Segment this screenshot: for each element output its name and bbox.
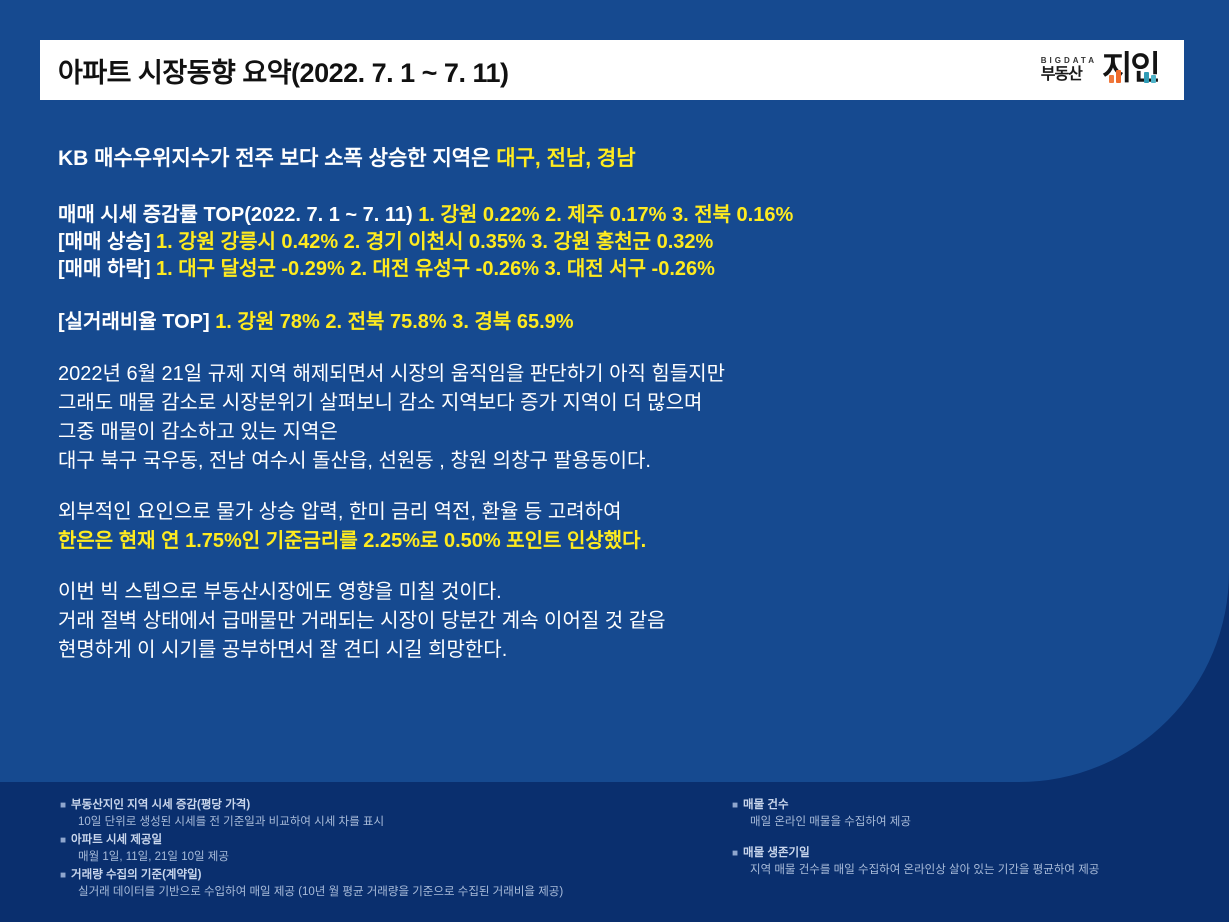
real-deal-line: [실거래비율 TOP] 1. 강원 78% 2. 전북 75.8% 3. 경북 … [58,312,1108,332]
square-bullet-icon: ■ [60,800,66,811]
price-up-line: [매매 상승] 1. 강원 강릉시 0.42% 2. 경기 이천시 0.35% … [58,232,1108,259]
real-deal-values: 1. 강원 78% 2. 전북 75.8% 3. 경북 65.9% [215,311,573,333]
footer-note-desc: 10일 단위로 생성된 시세를 전 기준일과 비교하여 시세 차를 표시 [78,817,700,829]
square-bullet-icon: ■ [732,800,738,811]
footer-note-title: ■매물 생존기일 [732,848,1202,860]
real-deal-block: [실거래비율 TOP] 1. 강원 78% 2. 전북 75.8% 3. 경북 … [58,312,1108,332]
footer-note-title-text: 매물 생존기일 [743,847,810,859]
footer-note-item: ■매물 생존기일 지역 매물 건수를 매일 수집하여 온라인상 살아 있는 기간… [732,848,1202,876]
square-bullet-icon: ■ [60,870,66,881]
interest-rate-statement: 한은은 현재 연 1.75%인 기준금리를 2.25%로 0.50% 포인트 인… [58,531,1108,560]
price-down-label: [매매 하락] [58,258,156,280]
spacer-5 [58,560,1108,582]
logo-bar-teal-2 [1151,75,1156,83]
price-up-values: 1. 강원 강릉시 0.42% 2. 경기 이천시 0.35% 3. 강원 홍천… [156,231,713,253]
footer-column-left: ■부동산지인 지역 시세 증감(평당 가격) 10일 단위로 생성된 시세를 전… [60,800,700,922]
spacer-4 [58,480,1108,502]
paragraph-2: 외부적인 요인으로 물가 상승 압력, 한미 금리 역전, 환율 등 고려하여 … [58,502,1108,560]
paragraph-1-line-2: 그래도 매물 감소로 시장분위기 살펴보니 감소 지역보다 증가 지역이 더 많… [58,393,1108,422]
logo-bar-teal-1 [1144,72,1149,83]
price-change-block: 매매 시세 증감률 TOP(2022. 7. 1 ~ 7. 11) 1. 강원 … [58,205,1108,286]
spacer-2 [58,286,1108,312]
header-bar: 아파트 시장동향 요약(2022. 7. 1 ~ 7. 11) BIGDATA … [40,40,1184,100]
footer-note-title: ■거래량 수집의 기준(계약일) [60,870,700,882]
page-title: 아파트 시장동향 요약(2022. 7. 1 ~ 7. 11) [58,51,508,90]
logo-bigdata-text: BIGDATA [1041,57,1097,65]
kb-index-label: KB 매수우위지수가 전주 보다 소폭 상승한 지역은 [58,147,496,170]
slide-root: 아파트 시장동향 요약(2022. 7. 1 ~ 7. 11) BIGDATA … [0,0,1229,922]
summary-body: KB 매수우위지수가 전주 보다 소폭 상승한 지역은 대구, 전남, 경남 매… [58,148,1108,669]
footer-note-desc: 지역 매물 건수를 매일 수집하여 온라인상 살아 있는 기간을 평균하여 제공 [750,865,1202,877]
price-top-label: 매매 시세 증감률 TOP(2022. 7. 1 ~ 7. 11) [58,204,418,226]
footer-note-title: ■부동산지인 지역 시세 증감(평당 가격) [60,800,700,812]
real-deal-label: [실거래비율 TOP] [58,311,215,333]
spacer-1 [58,173,1108,205]
price-down-values: 1. 대구 달성군 -0.29% 2. 대전 유성구 -0.26% 3. 대전 … [156,258,715,280]
logo-bar-orange-1 [1109,75,1114,83]
footer-note-title-text: 거래량 수집의 기준(계약일) [71,869,201,881]
paragraph-1-line-4: 대구 북구 국우동, 전남 여수시 돌산읍, 선원동 , 창원 의창구 팔용동이… [58,451,1108,480]
footer-note-title: ■매물 건수 [732,800,1202,812]
footer-note-item: ■매물 건수 매일 온라인 매물을 수집하여 제공 [732,800,1202,828]
logo-chart-icon: 지인 [1102,53,1168,87]
logo-brand-text: 부동산 [1041,67,1082,83]
logo-bar-orange-2 [1116,70,1121,83]
price-up-label: [매매 상승] [58,231,156,253]
kb-index-regions: 대구, 전남, 경남 [496,147,635,170]
footer-note-title-text: 아파트 시세 제공일 [71,834,162,846]
paragraph-3-line-2: 거래 절벽 상태에서 급매물만 거래되는 시장이 당분간 계속 이어질 것 같음 [58,611,1108,640]
paragraph-1-line-1: 2022년 6월 21일 규제 지역 해제되면서 시장의 움직임을 판단하기 아… [58,364,1108,393]
footer-note-item: ■거래량 수집의 기준(계약일) 실거래 데이터를 기반으로 수입하여 매일 제… [60,870,700,898]
brand-logo: BIGDATA 부동산 지인 [1041,53,1184,87]
price-top-line: 매매 시세 증감률 TOP(2022. 7. 1 ~ 7. 11) 1. 강원 … [58,205,1108,232]
paragraph-3-line-1: 이번 빅 스텝으로 부동산시장에도 영향을 미칠 것이다. [58,582,1108,611]
paragraph-2-line-1: 외부적인 요인으로 물가 상승 압력, 한미 금리 역전, 환율 등 고려하여 [58,502,1108,531]
footer-note-desc: 매일 온라인 매물을 수집하여 제공 [750,817,1202,829]
footer-note-item: ■부동산지인 지역 시세 증감(평당 가격) 10일 단위로 생성된 시세를 전… [60,800,700,828]
footer-column-right: ■매물 건수 매일 온라인 매물을 수집하여 제공 ■매물 생존기일 지역 매물… [732,800,1202,922]
paragraph-3-line-3: 현명하게 이 시기를 공부하면서 잘 견디 시길 희망한다. [58,640,1108,669]
footer-note-title-text: 부동산지인 지역 시세 증감(평당 가격) [71,799,250,811]
price-down-line: [매매 하락] 1. 대구 달성군 -0.29% 2. 대전 유성구 -0.26… [58,259,1108,286]
square-bullet-icon: ■ [60,835,66,846]
price-top-values: 1. 강원 0.22% 2. 제주 0.17% 3. 전북 0.16% [418,204,793,226]
kb-index-line: KB 매수우위지수가 전주 보다 소폭 상승한 지역은 대구, 전남, 경남 [58,148,1108,173]
footer-note-item: ■아파트 시세 제공일 매월 1일, 11일, 21일 10일 제공 [60,835,700,863]
logo-wordmark: BIGDATA 부동산 [1041,57,1097,83]
footer-note-title-text: 매물 건수 [743,799,789,811]
paragraph-3: 이번 빅 스텝으로 부동산시장에도 영향을 미칠 것이다. 거래 절벽 상태에서… [58,582,1108,669]
footer-note-desc: 실거래 데이터를 기반으로 수입하여 매일 제공 (10년 월 평균 거래량을 … [78,887,700,899]
spacer-3 [58,332,1108,364]
paragraph-1-line-3: 그중 매물이 감소하고 있는 지역은 [58,422,1108,451]
kb-index-block: KB 매수우위지수가 전주 보다 소폭 상승한 지역은 대구, 전남, 경남 [58,148,1108,173]
paragraph-1: 2022년 6월 21일 규제 지역 해제되면서 시장의 움직임을 판단하기 아… [58,364,1108,480]
footer-notes: ■부동산지인 지역 시세 증감(평당 가격) 10일 단위로 생성된 시세를 전… [0,800,1229,922]
footer-note-title: ■아파트 시세 제공일 [60,835,700,847]
footer-note-desc: 매월 1일, 11일, 21일 10일 제공 [78,852,700,864]
square-bullet-icon: ■ [732,848,738,859]
